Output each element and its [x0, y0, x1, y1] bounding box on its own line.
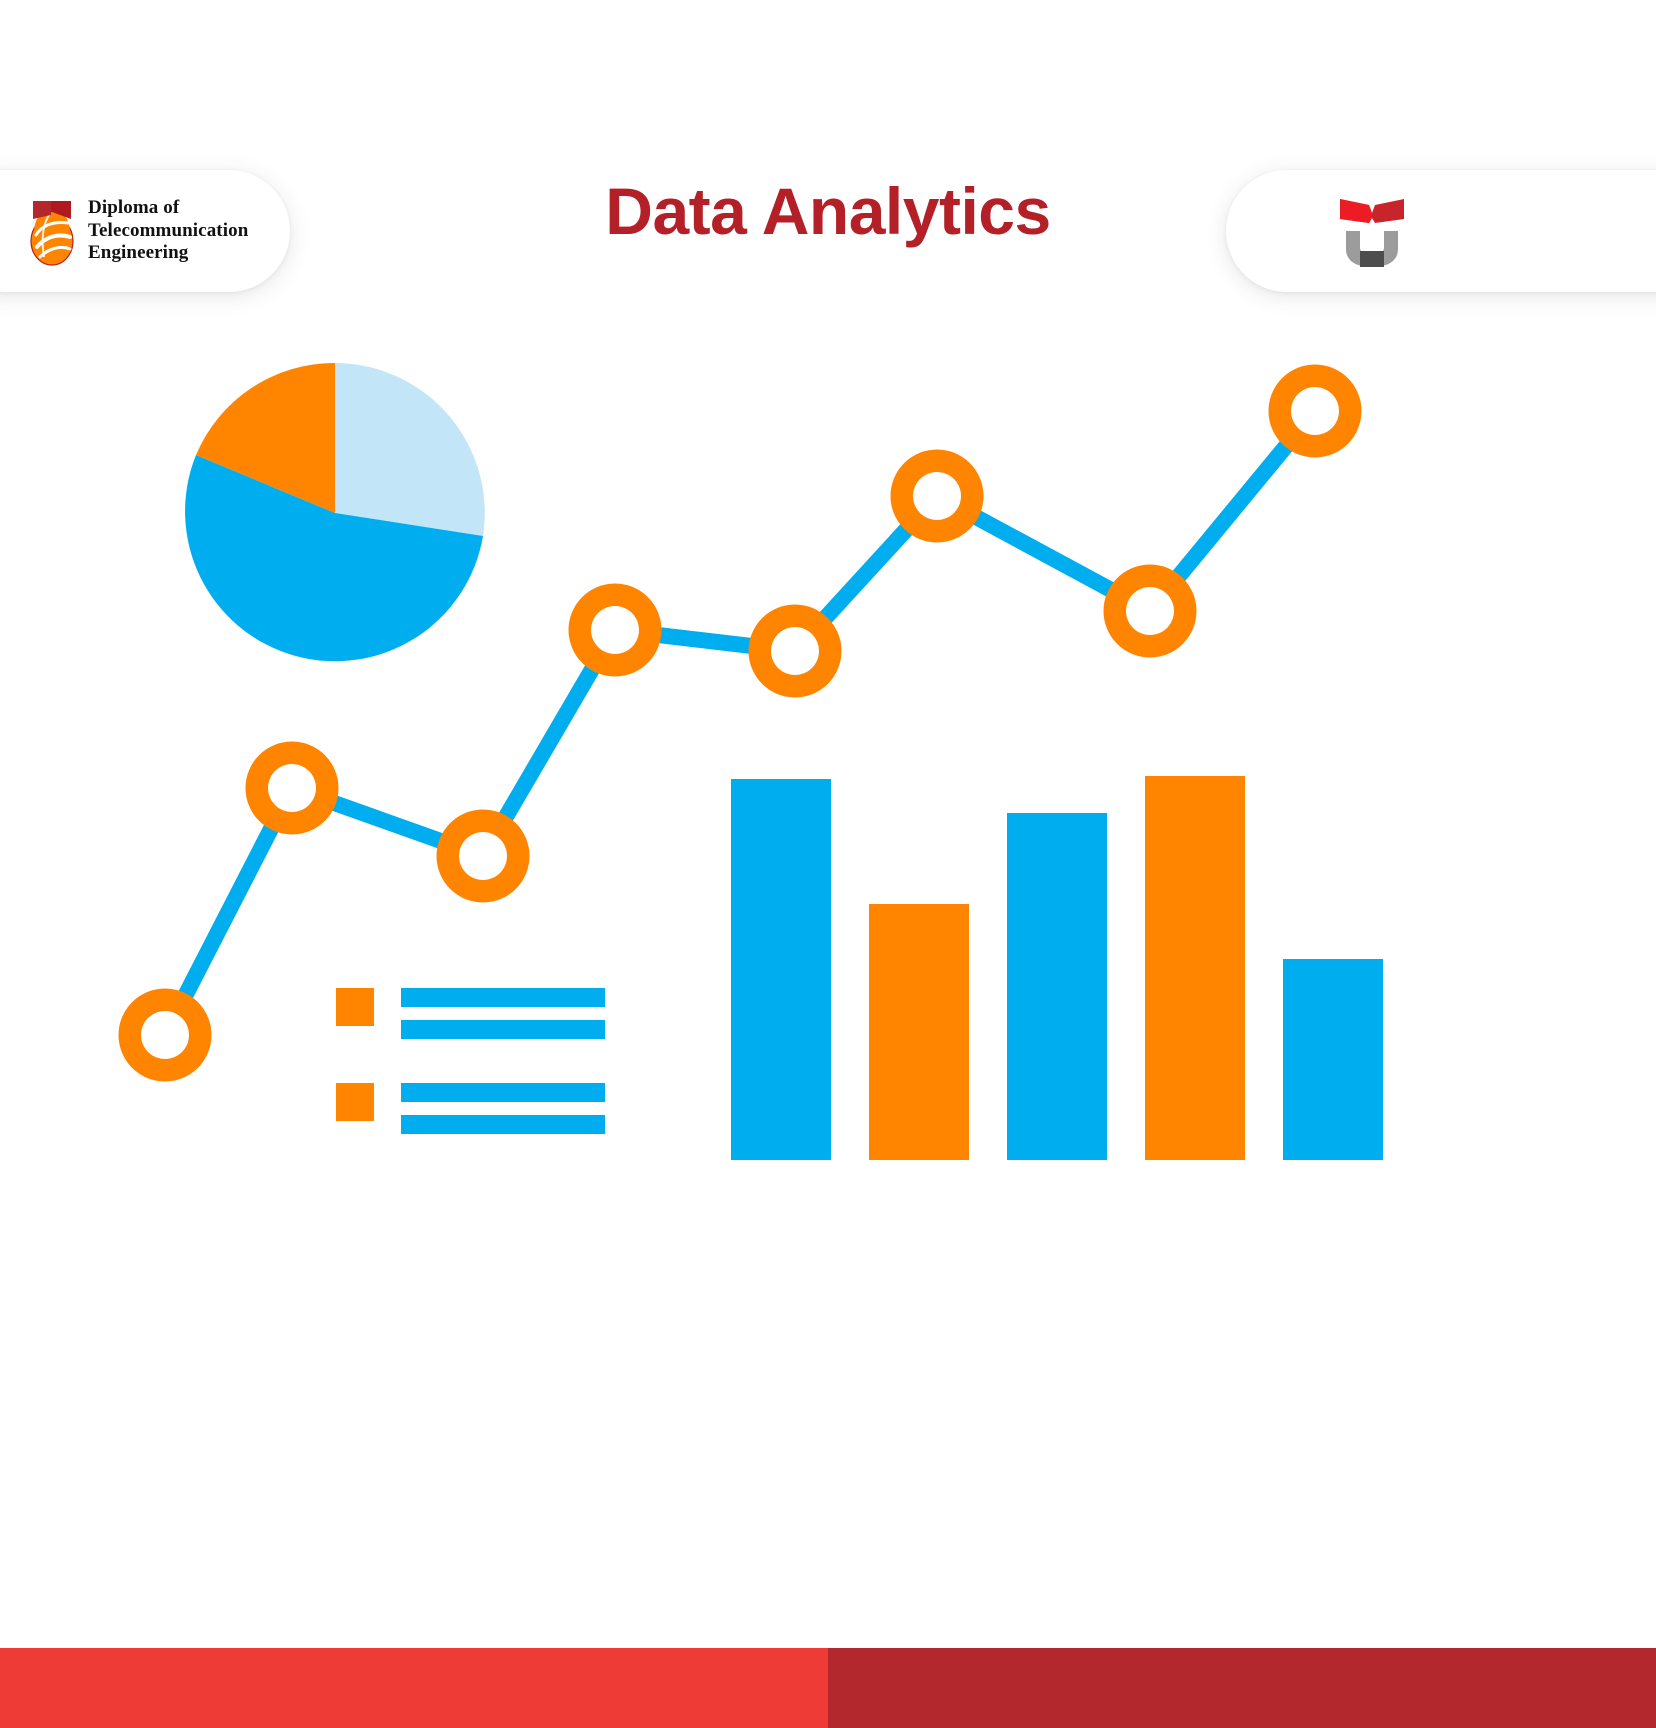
telkom-university-icon [1336, 193, 1408, 269]
line-marker-8-center [1291, 387, 1339, 435]
bar-chart [731, 776, 1383, 1160]
line-marker-7-center [1126, 587, 1174, 635]
footer-url-link[interactable]: https://dte.telkomuniversity.ac.id/ [0, 0, 1656, 80]
bar-1 [731, 779, 831, 1160]
line-marker-3-center [459, 832, 507, 880]
line-marker-4-center [591, 606, 639, 654]
line-marker-6-center [913, 472, 961, 520]
footer-right-band [828, 1648, 1656, 1728]
poster-canvas: Diploma of Telecommunication Engineering… [0, 0, 1656, 1728]
legend-line-2a [401, 1083, 605, 1102]
legend-line-1b [401, 1020, 605, 1039]
legend-swatch-1 [336, 988, 374, 1026]
line-marker-5-center [771, 627, 819, 675]
legend-list [336, 988, 605, 1134]
legend-line-2b [401, 1115, 605, 1134]
bar-4 [1145, 776, 1245, 1160]
legend-line-1a [401, 988, 605, 1007]
pie-slice-light-blue [335, 363, 485, 536]
bar-3 [1007, 813, 1107, 1160]
line-marker-2-center [268, 764, 316, 812]
footer-left-band [0, 1648, 828, 1728]
telkom-university-badge [1226, 170, 1656, 292]
footer-bar [0, 1648, 1656, 1728]
legend-swatch-2 [336, 1083, 374, 1121]
bar-2 [869, 904, 969, 1160]
line-marker-1-center [141, 1011, 189, 1059]
bar-5 [1283, 959, 1383, 1160]
analytics-illustration [0, 320, 1656, 1640]
pie-chart [185, 363, 485, 661]
